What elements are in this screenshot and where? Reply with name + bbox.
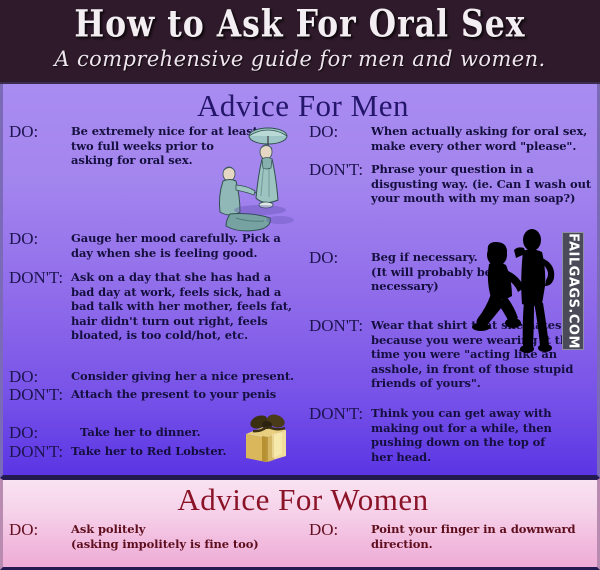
advice-label: DO: — [9, 425, 71, 441]
advice-text: Phrase your question in a disgusting way… — [371, 162, 591, 206]
women-section-title: Advice For Women — [3, 482, 600, 518]
advice-label: DON'T: — [309, 318, 371, 334]
advice-row: DON'T: Phrase your question in a disgust… — [309, 162, 600, 206]
advice-label: DO: — [9, 124, 71, 140]
gift-box-icon — [238, 412, 292, 464]
poster-image: How to Ask For Oral Sex A comprehensive … — [0, 0, 600, 570]
advice-text: Think you can get away with making out f… — [371, 406, 552, 464]
advice-label: DON'T: — [309, 406, 371, 422]
men-section-title: Advice For Men — [3, 88, 600, 124]
advice-label: DO: — [309, 522, 371, 538]
advice-text: Attach the present to your penis — [71, 387, 276, 402]
advice-label: DO: — [309, 124, 371, 140]
advice-text: When actually asking for oral sex, make … — [371, 124, 587, 153]
advice-row: DON'T: Think you can get away with makin… — [309, 406, 600, 464]
watermark-text: FAILGAGS.COM — [566, 233, 581, 349]
advice-text: Ask politely (asking impolitely is fine … — [71, 522, 259, 552]
vintage-couple-illustration — [196, 126, 304, 238]
advice-row: DON'T: Attach the present to your penis — [9, 387, 301, 403]
silhouette-couple-illustration — [466, 228, 572, 356]
poster-title: How to Ask For Oral Sex — [0, 2, 600, 46]
advice-label: DO: — [9, 369, 71, 385]
advice-label: DO: — [309, 250, 371, 266]
advice-row: DON'T: Ask on a day that she has had a b… — [9, 270, 301, 343]
advice-label: DON'T: — [9, 444, 71, 460]
gift-box-illustration — [238, 412, 292, 464]
advice-text: Ask on a day that she has had a bad day … — [71, 270, 292, 343]
advice-label: DON'T: — [9, 270, 71, 286]
advice-label: DO: — [9, 522, 71, 538]
advice-label: DON'T: — [9, 387, 71, 403]
advice-for-women-panel: Advice For Women DO: Ask politely (askin… — [0, 478, 600, 570]
advice-row: DO: Point your finger in a downward dire… — [309, 522, 600, 552]
advice-text: Take her to dinner. — [71, 425, 200, 440]
advice-text: Consider giving her a nice present. — [71, 369, 294, 384]
watermark-badge: FAILGAGS.COM — [562, 232, 584, 350]
vintage-couple-icon — [196, 126, 304, 238]
advice-label: DON'T: — [309, 162, 371, 178]
advice-row: DO: Consider giving her a nice present. — [9, 369, 301, 385]
silhouette-couple-icon — [466, 228, 572, 356]
poster-header: How to Ask For Oral Sex A comprehensive … — [0, 0, 600, 84]
poster-subtitle: A comprehensive guide for men and women. — [0, 47, 600, 71]
advice-row: DO: When actually asking for oral sex, m… — [309, 124, 600, 153]
advice-text: Take her to Red Lobster. — [71, 444, 226, 459]
advice-row: DO: Ask politely (asking impolitely is f… — [9, 522, 301, 552]
advice-label: DO: — [9, 231, 71, 247]
advice-text: Point your finger in a downward directio… — [371, 522, 575, 552]
